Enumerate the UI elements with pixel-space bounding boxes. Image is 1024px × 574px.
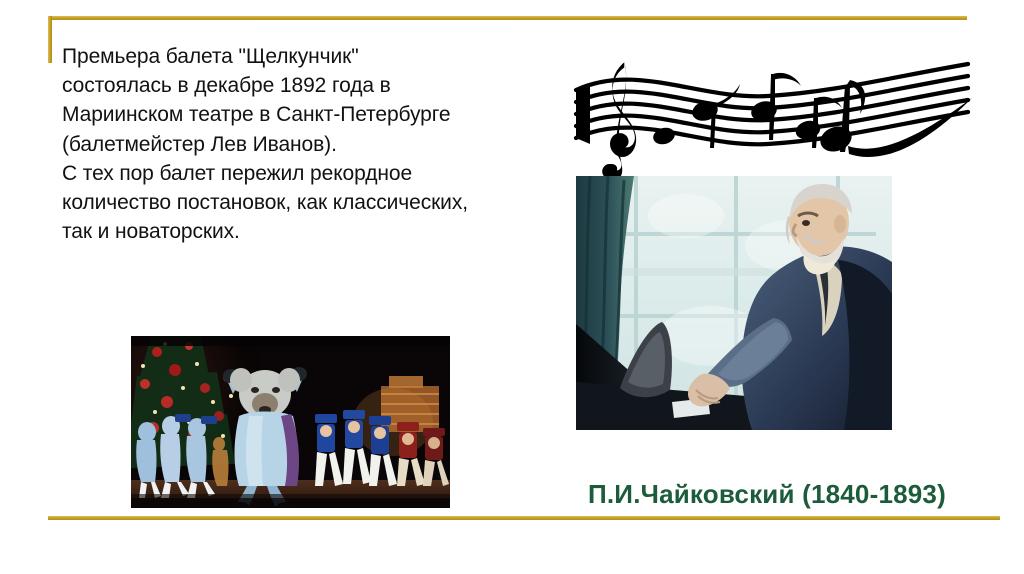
portrait-caption: П.И.Чайковский (1840-1893) [588, 479, 946, 510]
gold-rule-left [48, 16, 52, 63]
slide-body-text: Премьера балета "Щелкунчик" состоялась в… [62, 42, 582, 246]
gold-rule-top [48, 16, 967, 20]
nutcracker-ballet-image [131, 336, 450, 508]
tchaikovsky-portrait-image [576, 176, 892, 430]
slide-canvas: Премьера балета "Щелкунчик" состоялась в… [0, 0, 1024, 574]
gold-rule-bottom [48, 516, 1000, 520]
music-notes-icon [568, 40, 976, 176]
